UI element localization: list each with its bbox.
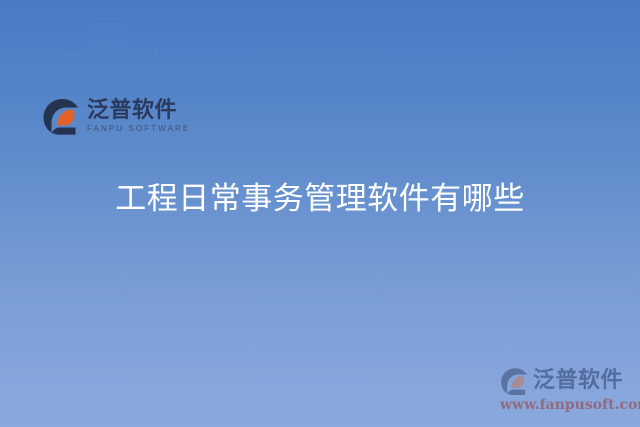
- watermark-name-cn: 泛普软件: [533, 370, 623, 392]
- fanpu-swoosh-logo-icon: [500, 366, 530, 396]
- fanpu-logo: 泛普软件 FANPU SOFTWARE: [42, 96, 190, 136]
- logo-name-cn: 泛普软件: [87, 100, 190, 122]
- watermark: 泛普软件 www.fanpusoft.com: [500, 366, 636, 413]
- promo-banner: 泛普软件 FANPU SOFTWARE 工程日常事务管理软件有哪些 泛普软件 w…: [0, 0, 640, 427]
- fanpu-wordmark: 泛普软件 FANPU SOFTWARE: [87, 100, 190, 133]
- logo-name-en: FANPU SOFTWARE: [87, 125, 190, 133]
- page-title: 工程日常事务管理软件有哪些: [0, 178, 640, 220]
- watermark-logo-row: 泛普软件: [500, 366, 636, 396]
- dotted-building-skyline-icon: [52, 14, 162, 102]
- fanpu-swoosh-logo-icon: [42, 96, 82, 136]
- watermark-url: www.fanpusoft.com: [500, 398, 636, 413]
